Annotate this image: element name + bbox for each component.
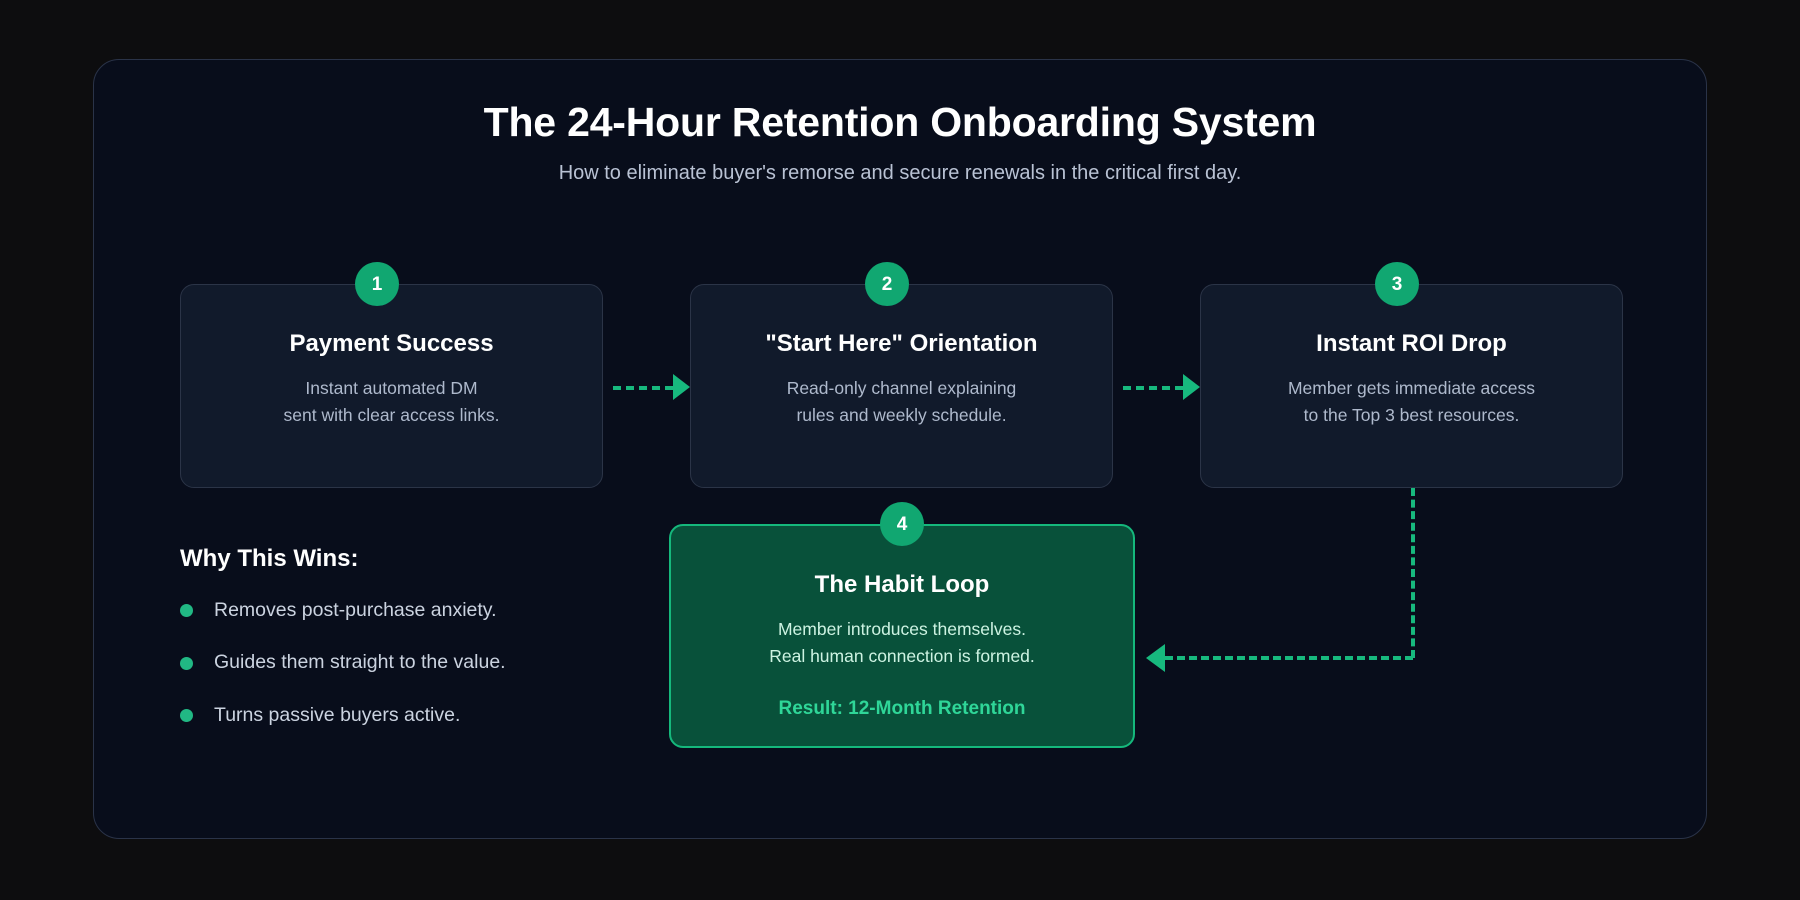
step-card-3[interactable]: Instant ROI Drop Member gets immediate a… [1200,284,1623,488]
step-badge-2-number: 2 [882,275,893,294]
step-badge-1-number: 1 [372,275,383,294]
step-card-3-title: Instant ROI Drop [1201,330,1622,359]
step-card-3-body: Member gets immediate access to the Top … [1215,375,1608,428]
step-badge-4-number: 4 [897,515,908,534]
connector-1-to-2-arrowhead [673,374,690,400]
step-card-4-title: The Habit Loop [671,571,1133,600]
step-card-4[interactable]: The Habit Loop Member introduces themsel… [669,524,1135,748]
step-badge-4: 4 [880,502,924,546]
why-this-wins-item-1: Removes post-purchase anxiety. [180,599,640,622]
bullet-dot-icon [180,604,193,617]
step-card-2[interactable]: "Start Here" Orientation Read-only chann… [690,284,1113,488]
main-panel: The 24-Hour Retention Onboarding System … [93,59,1707,839]
connector-3-to-4-horizontal [1165,656,1413,660]
step-badge-2: 2 [865,262,909,306]
why-this-wins-item-2: Guides them straight to the value. [180,651,640,674]
step-badge-3-number: 3 [1392,275,1403,294]
step-card-1[interactable]: Payment Success Instant automated DM sen… [180,284,603,488]
step-card-1-body: Instant automated DM sent with clear acc… [195,375,588,428]
why-this-wins-item-3: Turns passive buyers active. [180,704,640,727]
step-card-2-title: "Start Here" Orientation [691,330,1112,359]
why-this-wins-item-1-text: Removes post-purchase anxiety. [214,599,497,622]
bullet-dot-icon [180,709,193,722]
connector-1-to-2-line [613,386,673,390]
why-this-wins-item-2-text: Guides them straight to the value. [214,651,506,674]
why-this-wins-item-3-text: Turns passive buyers active. [214,704,460,727]
connector-3-to-4-vertical [1411,488,1415,658]
connector-2-to-3-line [1123,386,1183,390]
diagram-canvas: The 24-Hour Retention Onboarding System … [0,0,1800,900]
connector-3-to-4-arrowhead [1146,644,1165,672]
bullet-dot-icon [180,657,193,670]
connector-2-to-3-arrowhead [1183,374,1200,400]
step-card-4-body: Member introduces themselves. Real human… [685,616,1119,669]
why-this-wins-section: Why This Wins: Removes post-purchase anx… [180,545,640,756]
step-card-2-body: Read-only channel explaining rules and w… [705,375,1098,428]
step-badge-3: 3 [1375,262,1419,306]
why-this-wins-title: Why This Wins: [180,545,640,573]
page-subtitle: How to eliminate buyer's remorse and sec… [94,161,1706,185]
step-badge-1: 1 [355,262,399,306]
header: The 24-Hour Retention Onboarding System … [94,100,1706,185]
page-title: The 24-Hour Retention Onboarding System [94,100,1706,145]
step-card-1-title: Payment Success [181,330,602,359]
step-card-4-result: Result: 12-Month Retention [671,698,1133,720]
